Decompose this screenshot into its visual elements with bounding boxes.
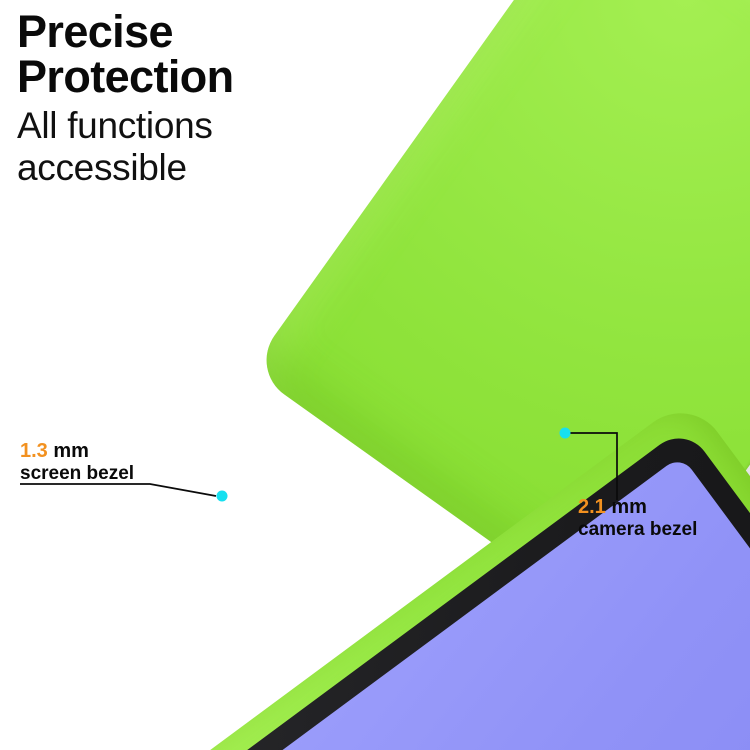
leader-line-screen-bezel [20,484,216,496]
callout-unit: mm [48,440,89,462]
callout-camera-bezel: 2.1 mm camera bezel [578,496,697,541]
callout-screen-bezel: 1.3 mm screen bezel [20,440,134,485]
headline-block: Precise Protection All functions accessi… [17,10,347,188]
page-subtitle: All functions accessible [17,105,347,188]
callout-value: 1.3 [20,440,48,462]
callout-unit: mm [606,496,647,518]
product-feature-image: Precise Protection All functions accessi… [0,0,750,750]
callout-measurement: 1.3 mm [20,440,134,463]
callout-measurement: 2.1 mm [578,496,697,519]
marker-dot-screen-bezel [217,491,228,502]
callout-value: 2.1 [578,496,606,518]
callout-description: screen bezel [20,463,134,485]
page-title: Precise Protection [17,10,347,99]
callout-description: camera bezel [578,519,697,541]
wallpaper-mountains [365,696,750,750]
